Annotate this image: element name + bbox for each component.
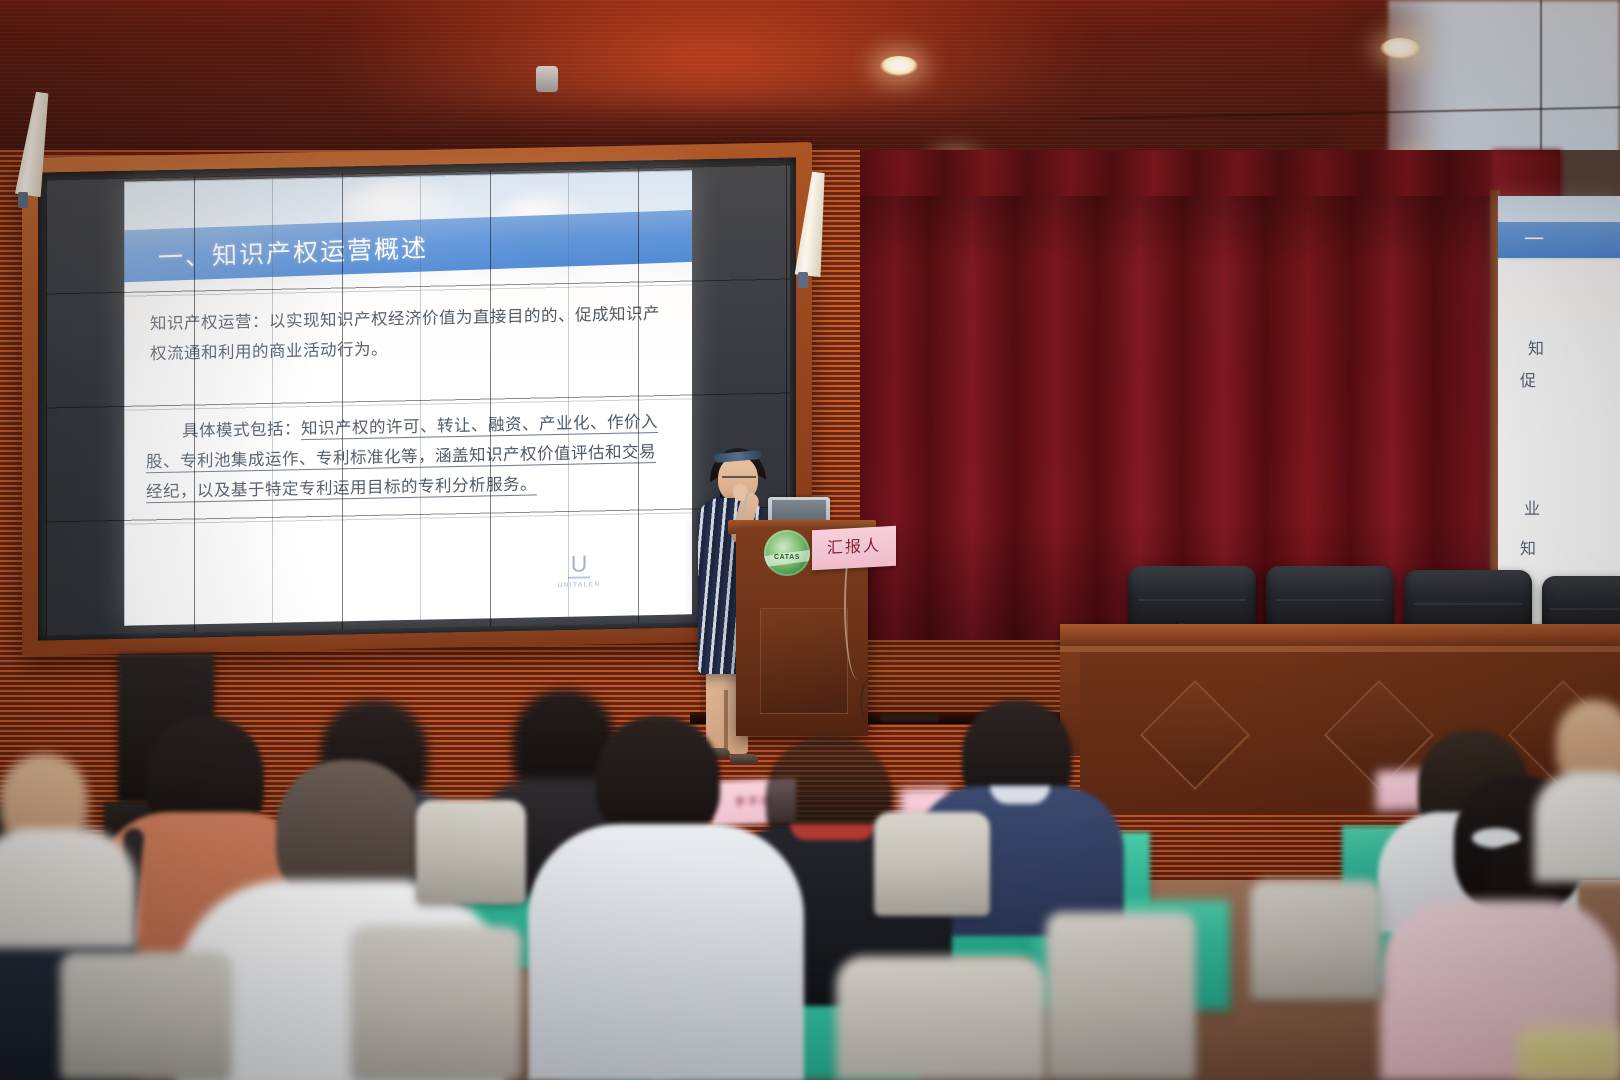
ceiling-seam (1540, 0, 1542, 160)
podium-front-panel (760, 608, 848, 714)
audience-person-body (528, 824, 804, 1080)
foreground-object (1518, 1026, 1620, 1080)
smoke-detector-icon (536, 66, 558, 92)
audience-chair (1046, 912, 1196, 1080)
audience-chair (836, 956, 1046, 1080)
audience-person-lanyard (790, 824, 876, 840)
audience-chair (874, 812, 990, 916)
secondary-slide-line-3: 业 (1524, 496, 1540, 524)
speaker-shoe (730, 754, 758, 764)
slide-paragraph-2-lead: 具体模式包括： (182, 420, 301, 440)
audience-chair (60, 952, 230, 1080)
logo-u-glyph: U (544, 552, 614, 575)
catas-emblem-text: CATAS (764, 554, 810, 561)
downlight-icon (880, 56, 918, 76)
cable-cover (880, 714, 940, 722)
audience-chair (1250, 880, 1382, 1000)
secondary-slide-line-1: 知 (1528, 336, 1544, 364)
sconce-mount (798, 272, 808, 288)
secondary-slide-title: 一 (1524, 222, 1620, 258)
logo-wordmark: UNITALEN (544, 580, 614, 588)
secondary-slide-line-4: 知 (1520, 536, 1536, 564)
secondary-slide-line-2: 促 (1520, 368, 1536, 396)
audience-chair (416, 800, 526, 904)
slide-paragraph-1: 知识产权运营：以实现知识产权经济价值为直接目的的、促成知识产权流通和利用的商业活… (150, 299, 662, 369)
speaker-leg-gap (724, 690, 728, 754)
audience-person-body (0, 828, 136, 948)
catas-emblem-icon: CATAS (764, 530, 810, 576)
audience-person-body (1534, 772, 1620, 882)
head-table-surface (1060, 624, 1620, 646)
audience-person-head (596, 716, 720, 840)
downlight-icon (1380, 38, 1420, 59)
cable (860, 672, 902, 732)
presentation-slide: 一、知识产权运营概述 知识产权运营：以实现知识产权经济价值为直接目的的、促成知识… (124, 170, 692, 625)
sconce-mount (18, 192, 28, 208)
secondary-screen: 一 知 促 业 知 (1498, 196, 1620, 632)
conference-hall-photo: 一、知识产权运营概述 知识产权运营：以实现知识产权经济价值为直接目的的、促成知识… (0, 0, 1620, 1080)
cable (844, 530, 872, 680)
audience-person-collar (990, 786, 1050, 804)
curtain-valance (860, 150, 1560, 196)
unitalen-logo: U UNITALEN (544, 552, 614, 589)
slide-paragraph-2: 具体模式包括：知识产权的许可、转让、融资、产业化、作价入股、专利池集成运作、专利… (146, 407, 670, 508)
ceiling-light-glow (330, 0, 1090, 110)
audience-chair (352, 926, 522, 1080)
